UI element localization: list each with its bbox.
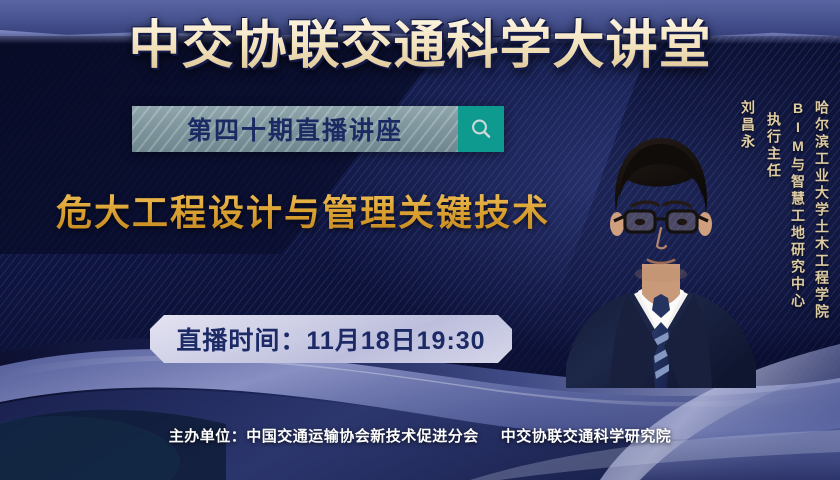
footer-org-1: 中国交通运输协会新技术促进分会	[246, 428, 479, 445]
speaker-institution: 哈尔滨工业大学土木工程学院	[808, 100, 832, 321]
speaker-portrait	[566, 88, 756, 388]
broadcast-time-text: 直播时间：11月18日19:30	[176, 321, 485, 357]
speaker-research-center: BIM与智慧工地研究中心	[784, 100, 808, 310]
search-button[interactable]	[458, 106, 504, 152]
footer-label: 主办单位：	[169, 428, 247, 445]
footer-org-2: 中交协联交通科学研究院	[501, 428, 672, 445]
speaker-role: 执行主任	[758, 112, 784, 180]
broadcast-time-badge: 直播时间：11月18日19:30	[150, 315, 512, 363]
episode-banner: 第四十期直播讲座	[132, 106, 504, 152]
search-icon	[469, 117, 493, 141]
speaker-credits: 刘昌永 执行主任 BIM与智慧工地研究中心 哈尔滨工业大学土木工程学院	[732, 100, 832, 321]
poster-canvas: 中交协联交通科学大讲堂 第四十期直播讲座 危大工程设计与管理关键技术 直播时间：…	[0, 0, 840, 480]
episode-label: 第四十期直播讲座	[187, 111, 403, 147]
footer-organizers: 主办单位：中国交通运输协会新技术促进分会中交协联交通科学研究院	[0, 425, 840, 446]
episode-banner-body: 第四十期直播讲座	[132, 106, 458, 152]
lecture-headline: 危大工程设计与管理关键技术	[56, 190, 550, 236]
speaker-name: 刘昌永	[732, 100, 758, 151]
poster-title: 中交协联交通科学大讲堂	[0, 16, 840, 76]
